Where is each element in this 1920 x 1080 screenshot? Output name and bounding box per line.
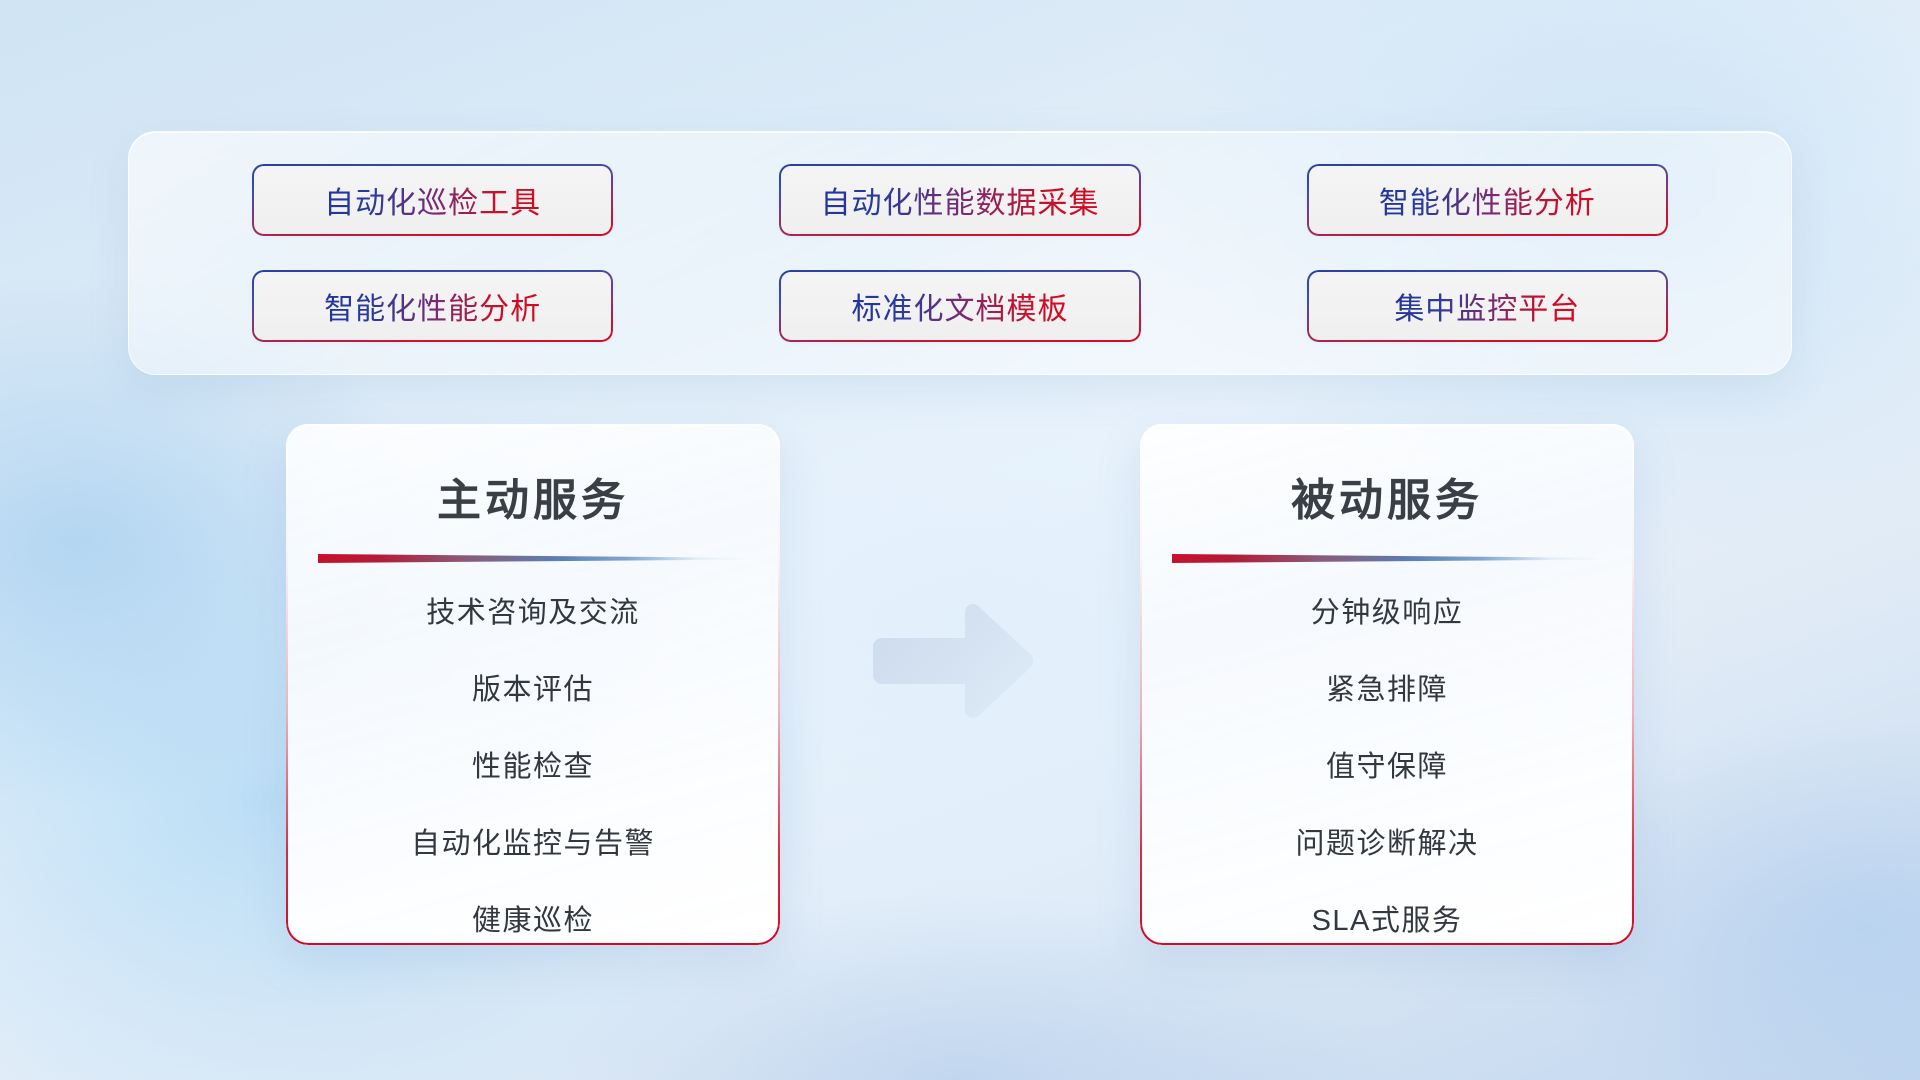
title-divider — [318, 554, 748, 563]
list-item: 版本评估 — [286, 676, 780, 705]
card-title: 被动服务 — [1140, 464, 1634, 528]
capability-tag[interactable]: 集中监控平台 — [1308, 272, 1666, 340]
capability-tag-label: 集中监控平台 — [1394, 284, 1580, 328]
active-service-list: 技术咨询及交流 版本评估 性能检查 自动化监控与告警 健康巡检 — [286, 599, 780, 936]
title-divider — [1172, 554, 1602, 563]
list-item: 分钟级响应 — [1140, 599, 1634, 628]
capability-tag-label: 智能化性能分析 — [1379, 178, 1596, 222]
capability-tag[interactable]: 智能化性能分析 — [254, 272, 612, 340]
capability-tag[interactable]: 自动化性能数据采集 — [781, 166, 1139, 234]
capability-tag-label: 自动化性能数据采集 — [820, 178, 1099, 222]
list-item: 值守保障 — [1140, 753, 1634, 782]
capability-tags-panel: 自动化巡检工具 自动化性能数据采集 智能化性能分析 智能化性能分析 标准化文档模… — [128, 131, 1792, 375]
card-title: 主动服务 — [286, 464, 780, 528]
passive-service-card: 被动服务 分钟级响应 紧急排障 值守保障 问题诊断解决 SLA式服务 — [1140, 424, 1634, 945]
list-item: 技术咨询及交流 — [286, 599, 780, 628]
list-item: 问题诊断解决 — [1140, 830, 1634, 859]
list-item: SLA式服务 — [1140, 907, 1634, 936]
capability-tag[interactable]: 智能化性能分析 — [1308, 166, 1666, 234]
list-item: 健康巡检 — [286, 907, 780, 936]
passive-service-list: 分钟级响应 紧急排障 值守保障 问题诊断解决 SLA式服务 — [1140, 599, 1634, 936]
list-item: 紧急排障 — [1140, 676, 1634, 705]
capability-tag-label: 自动化巡检工具 — [324, 178, 541, 222]
list-item: 性能检查 — [286, 753, 780, 782]
arrow-right-icon — [872, 602, 1037, 720]
active-service-card: 主动服务 技术咨询及交流 版本评估 性能检查 自动化监控与告警 健康巡检 — [286, 424, 780, 945]
list-item: 自动化监控与告警 — [286, 830, 780, 859]
capability-tag-label: 智能化性能分析 — [324, 284, 541, 328]
capability-tag[interactable]: 自动化巡检工具 — [254, 166, 612, 234]
diagram-canvas: 自动化巡检工具 自动化性能数据采集 智能化性能分析 智能化性能分析 标准化文档模… — [0, 0, 1920, 1080]
capability-tag-label: 标准化文档模板 — [851, 284, 1068, 328]
capability-tag[interactable]: 标准化文档模板 — [781, 272, 1139, 340]
